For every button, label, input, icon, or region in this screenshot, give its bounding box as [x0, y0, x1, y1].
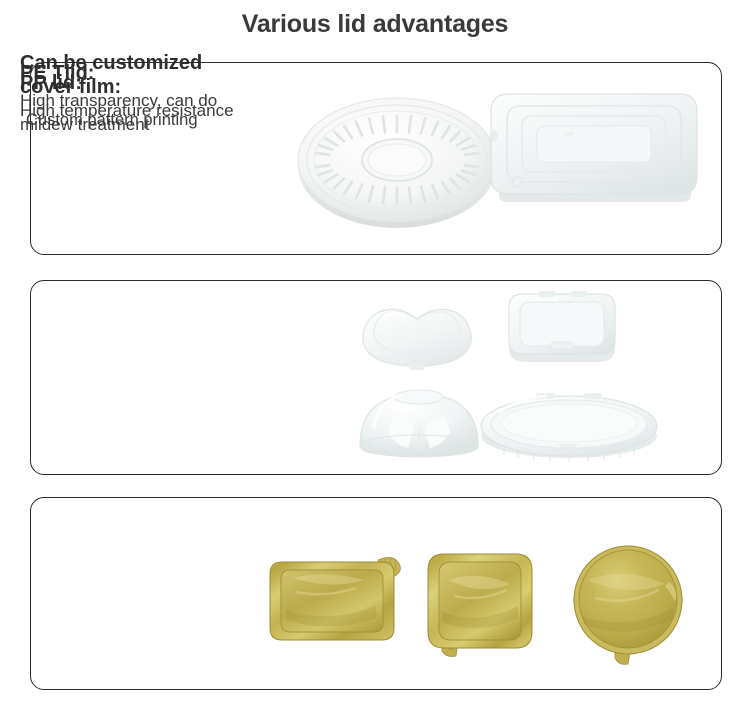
page-title: Various lid advantages	[0, 10, 750, 39]
card-cover-film-text: Can be customized cover film: Custom pat…	[20, 52, 202, 133]
oval-pet-lid-image	[478, 386, 660, 462]
square-gold-foil-cover-image	[424, 546, 554, 664]
svg-text:PP: PP	[565, 132, 575, 139]
heart-pet-lid-image	[352, 288, 482, 373]
dome-pet-lid-image	[356, 384, 482, 460]
square-pet-lid-image	[497, 286, 627, 374]
card-cover-film-heading: Can be customized cover film:	[20, 52, 202, 99]
round-pp-lid-image	[296, 92, 506, 232]
rectangular-pp-lid-image: PP	[487, 86, 702, 226]
round-gold-foil-cover-image	[565, 542, 691, 668]
rectangular-gold-foil-cover-image	[266, 548, 416, 656]
card-cover-film-subtext: Custom pattern printing	[20, 109, 202, 133]
